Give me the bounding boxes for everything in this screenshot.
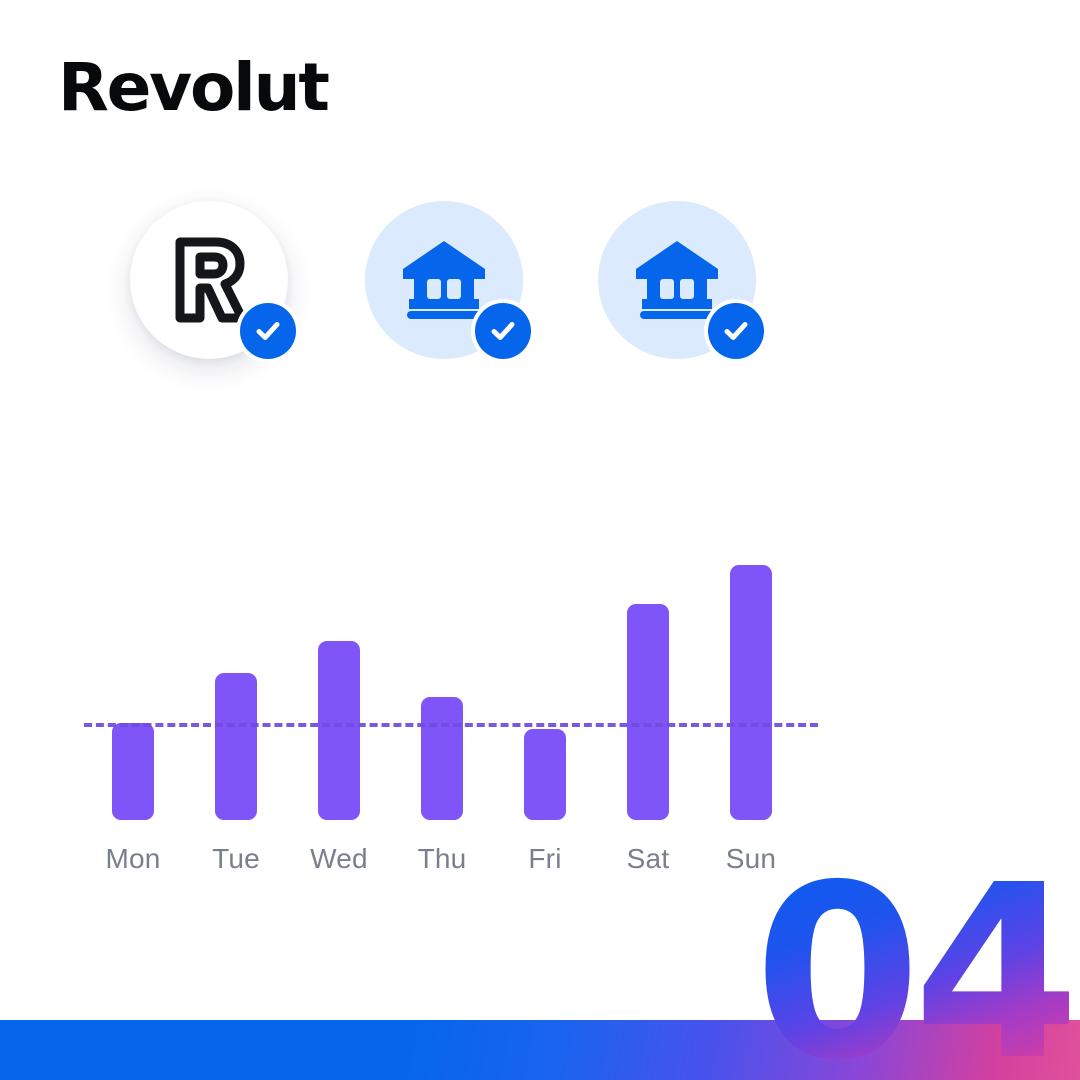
x-label-wed: Wed [279,843,399,875]
x-label-thu: Thu [382,843,502,875]
average-line [84,723,818,727]
bar-thu[interactable] [421,697,463,820]
bar-sat[interactable] [627,604,669,820]
x-label-fri: Fri [485,843,605,875]
x-label-sat: Sat [588,843,708,875]
bar-tue[interactable] [215,673,257,820]
bar-mon[interactable] [112,723,154,820]
bar-sun[interactable] [730,565,772,820]
slide-number: 04 [754,875,1072,1072]
slide-canvas: Revolut [0,0,1080,1080]
x-label-mon: Mon [73,843,193,875]
bar-wed[interactable] [318,641,360,820]
bar-fri[interactable] [524,729,566,820]
x-label-tue: Tue [176,843,296,875]
